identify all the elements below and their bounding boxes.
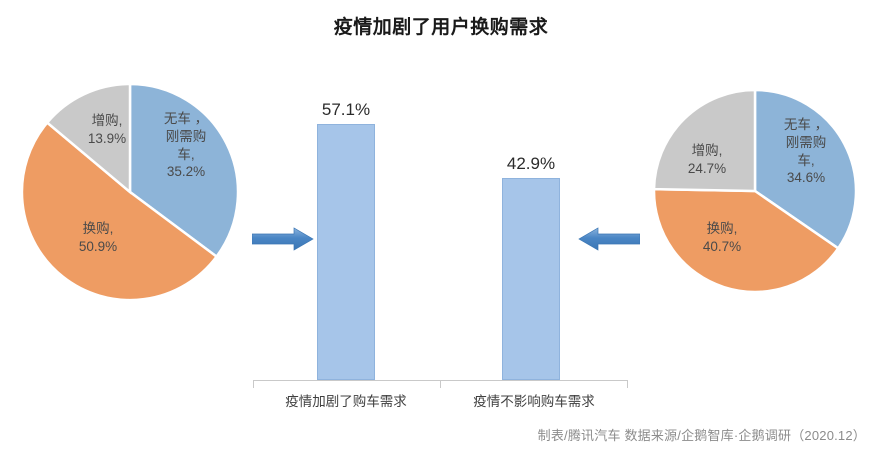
pie-right-slice-gray[interactable] [654,90,755,191]
arrow-right-glyph [252,226,314,252]
axis-tick-start [253,380,254,388]
bar-value-unaffected: 42.9% [486,154,576,174]
arrow-left-glyph [578,226,640,252]
pie-left-svg [20,82,240,302]
bar-category-affected: 疫情加剧了购车需求 [253,390,439,410]
bar-category-unaffected: 疫情不影响购车需求 [441,390,627,410]
source-note: 制表/腾讯汽车 数据来源/企鹅智库·企鹅调研（2020.12） [538,425,866,444]
pie-chart-right: 无车 ， 刚需购 车, 34.6% 换购, 40.7% 增购, 24.7% [652,88,858,294]
arrow-left-icon [578,226,640,252]
axis-tick-end [627,380,628,388]
bar-unaffected[interactable] [502,178,560,381]
arrow-right-icon [252,226,314,252]
bar-value-affected: 57.1% [301,100,391,120]
axis-tick-middle [440,380,441,388]
bar-affected[interactable] [317,124,375,380]
pie-right-svg [652,88,858,294]
bar-chart: 57.1% 42.9% 疫情加剧了购车需求 疫情不影响购车需求 [253,90,628,420]
pie-chart-left: 无车 ， 刚需购 车, 35.2% 换购, 50.9% 增购, 13.9% [20,82,240,302]
page-title: 疫情加剧了用户换购需求 [0,12,882,39]
